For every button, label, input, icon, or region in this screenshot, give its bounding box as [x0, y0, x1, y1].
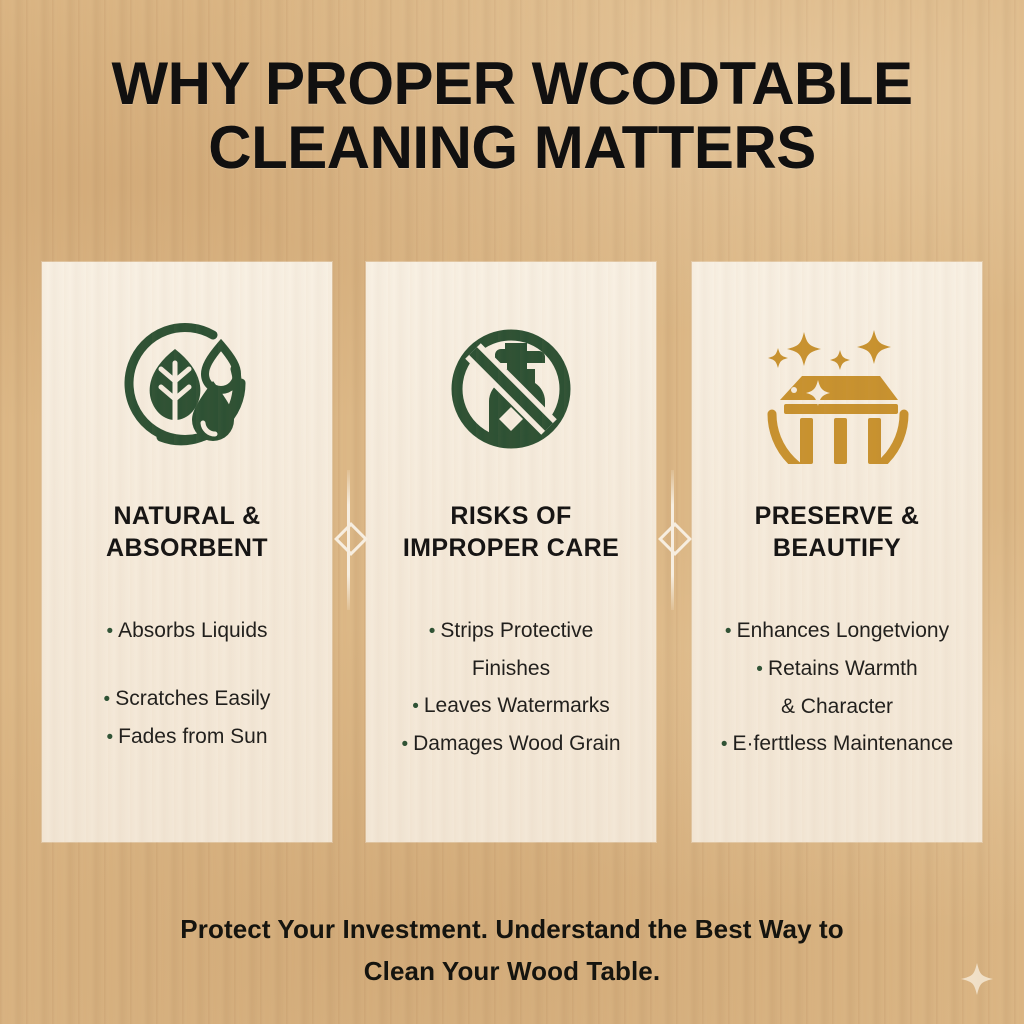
bullet-dot-icon: • — [401, 734, 408, 755]
list-item-continuation: & Character — [710, 688, 964, 725]
bullet-dot-icon: • — [106, 621, 113, 642]
no-spray-bottle-icon — [366, 314, 656, 464]
divider-diamond-2 — [657, 470, 687, 610]
column-title-line-1: NATURAL & — [56, 500, 318, 532]
leaf-water-drop-icon — [42, 314, 332, 464]
column-title: PRESERVE & BEAUTIFY — [706, 500, 968, 564]
column-card-preserve-beautify: PRESERVE & BEAUTIFY •Enhances Longetvion… — [692, 262, 982, 842]
list-item-continuation: Finishes — [384, 650, 638, 687]
column-title: RISKS OF IMPROPER CARE — [380, 500, 642, 564]
infographic-canvas: WHY PROPER WCODTABLE CLEANING MATTERS NA — [0, 0, 1024, 1024]
bullet-dot-icon: • — [725, 621, 732, 642]
list-item-text: Finishes — [472, 657, 550, 680]
list-item: •Enhances Longetviony — [710, 612, 964, 650]
column-title-line-1: PRESERVE & — [706, 500, 968, 532]
page-title-line-1: WHY PROPER WCODTABLE — [111, 50, 912, 117]
list-item: •Absorbs Liquids — [60, 612, 314, 650]
bullet-list: •Strips Protective Finishes •Leaves Wate… — [384, 612, 638, 763]
list-item: •Damages Wood Grain — [384, 725, 638, 763]
bullet-dot-icon: • — [756, 659, 763, 680]
tagline-line-2: Clean Your Wood Table. — [110, 950, 914, 992]
diamond-icon — [334, 522, 368, 556]
bullet-spacer — [60, 650, 314, 680]
column-title-line-2: ABSORBENT — [56, 532, 318, 564]
list-item-text: Fades from Sun — [118, 725, 267, 748]
list-item: •Strips Protective — [384, 612, 638, 650]
list-item-text: Absorbs Liquids — [118, 619, 267, 642]
page-title-line-2: CLEANING MATTERS — [0, 116, 1024, 180]
column-card-risks-improper-care: RISKS OF IMPROPER CARE •Strips Protectiv… — [366, 262, 656, 842]
list-item-text: Leaves Watermarks — [424, 694, 610, 717]
sparkling-table-icon — [692, 314, 982, 464]
divider-diamond-1 — [333, 470, 363, 610]
diamond-icon — [658, 522, 692, 556]
bullet-dot-icon: • — [429, 621, 436, 642]
page-title: WHY PROPER WCODTABLE CLEANING MATTERS — [0, 52, 1024, 180]
sparkle-icon — [960, 962, 994, 996]
list-item-text: Strips Protective — [440, 619, 593, 642]
column-title-line-1: RISKS OF — [380, 500, 642, 532]
list-item-text: E·ferttless Maintenance — [733, 732, 954, 755]
bullet-list: •Enhances Longetviony •Retains Warmth & … — [710, 612, 964, 763]
list-item: •Leaves Watermarks — [384, 687, 638, 725]
bullet-list: •Absorbs Liquids •Scratches Easily •Fade… — [60, 612, 314, 756]
tagline-line-1: Protect Your Investment. Understand the … — [110, 908, 914, 950]
bullet-dot-icon: • — [412, 696, 419, 717]
list-item-text: Enhances Longetviony — [737, 619, 950, 642]
list-item-text: Scratches Easily — [115, 687, 270, 710]
column-title-line-2: IMPROPER CARE — [380, 532, 642, 564]
list-item-text: Damages Wood Grain — [413, 732, 620, 755]
columns-container: NATURAL & ABSORBENT •Absorbs Liquids •Sc… — [0, 262, 1024, 842]
list-item-text: Retains Warmth — [768, 657, 918, 680]
list-item: •Fades from Sun — [60, 718, 314, 756]
column-title-line-2: BEAUTIFY — [706, 532, 968, 564]
list-item: •E·ferttless Maintenance — [710, 725, 964, 763]
bullet-dot-icon: • — [104, 689, 111, 710]
column-card-natural-absorbent: NATURAL & ABSORBENT •Absorbs Liquids •Sc… — [42, 262, 332, 842]
list-item: •Scratches Easily — [60, 680, 314, 718]
tagline: Protect Your Investment. Understand the … — [110, 908, 914, 992]
bullet-dot-icon: • — [721, 734, 728, 755]
column-title: NATURAL & ABSORBENT — [56, 500, 318, 564]
list-item-text: & Character — [781, 695, 893, 718]
list-item: •Retains Warmth — [710, 650, 964, 688]
bullet-dot-icon: • — [106, 727, 113, 748]
